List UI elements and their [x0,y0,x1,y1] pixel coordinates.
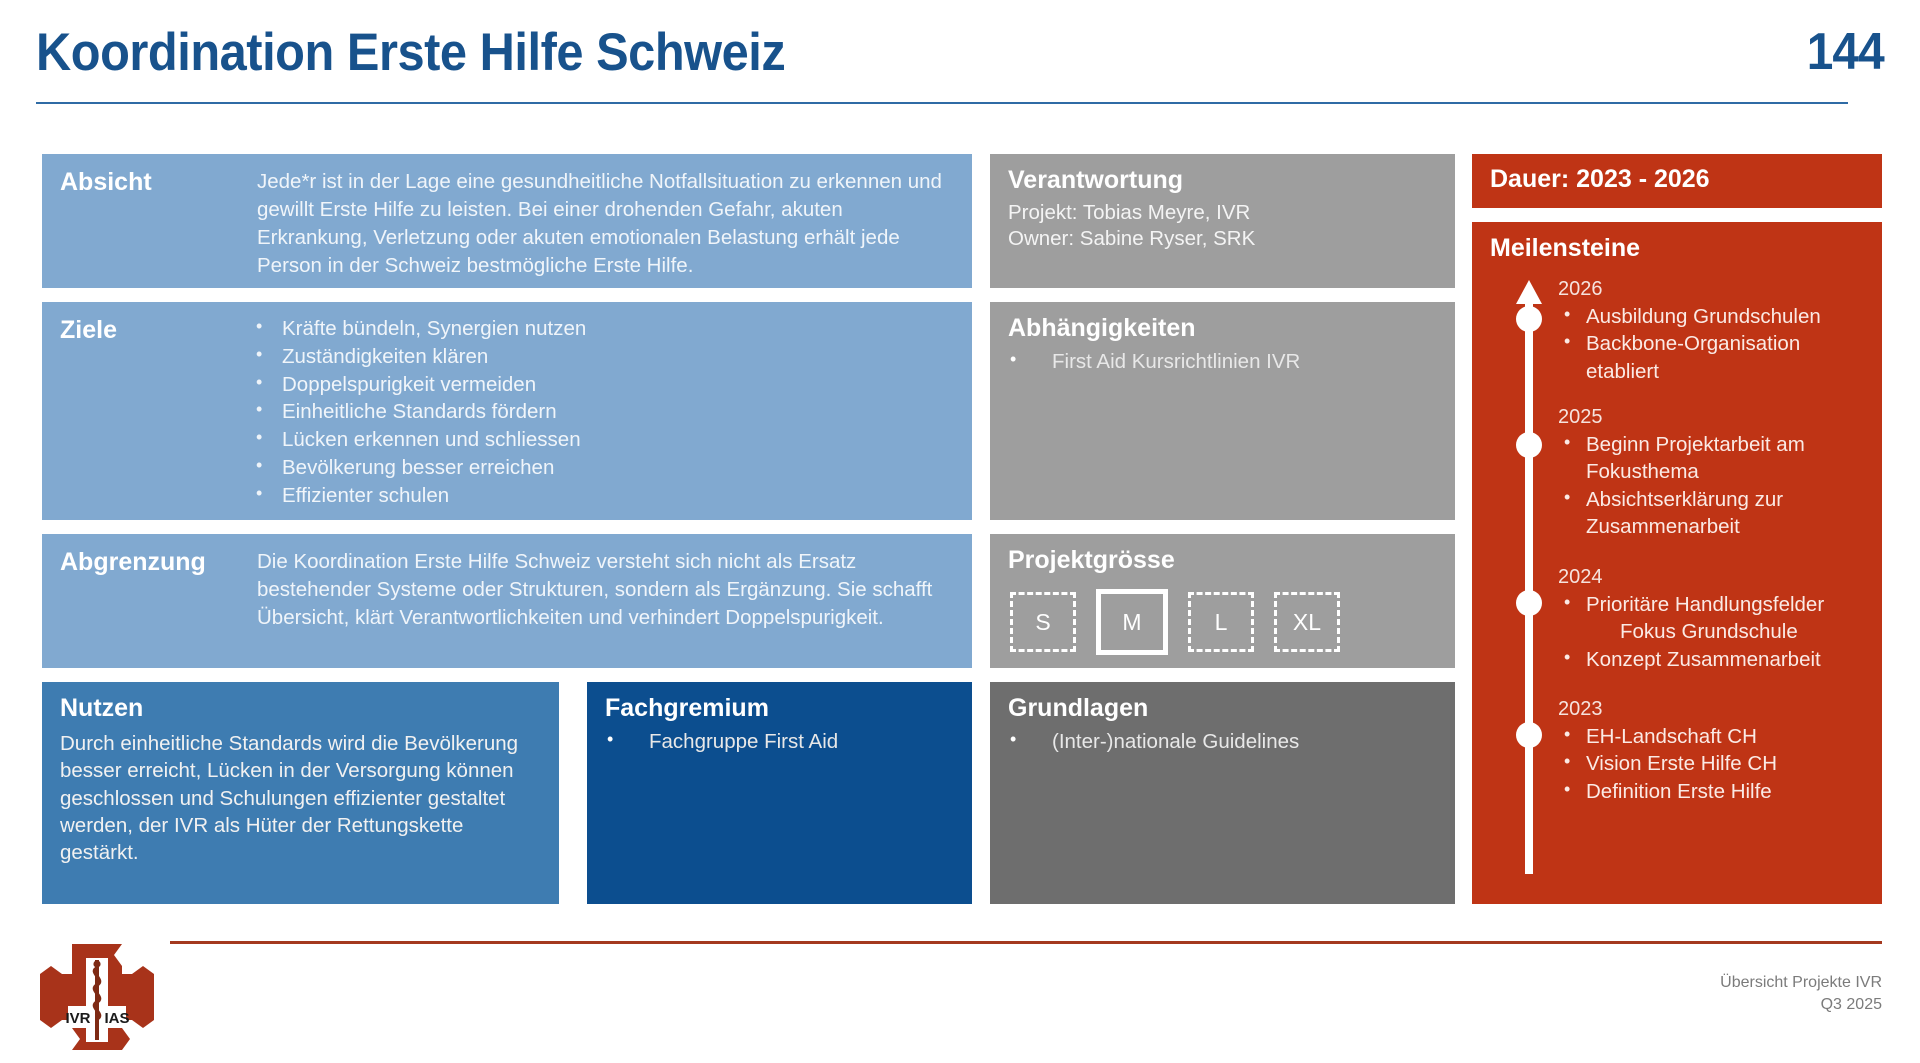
timeline-line [1525,302,1533,874]
timeline-dot-2026 [1516,306,1542,332]
ziele-list-item: Bevölkerung besser erreichen [250,454,958,482]
milestone-list: Beginn Projektarbeit am FokusthemaAbsich… [1558,431,1872,541]
card-verantwortung-label: Verantwortung [1008,166,1183,195]
project-size-option-s[interactable]: S [1010,592,1076,652]
card-nutzen-text: Durch einheitliche Standards wird die Be… [60,730,545,866]
milestone-list-item: Ausbildung Grundschulen [1558,303,1872,330]
card-ziele-list: Kräfte bündeln, Synergien nutzenZuständi… [250,315,958,509]
card-projektgroesse-label: Projektgrösse [1008,546,1175,575]
card-ziele-label: Ziele [60,316,117,345]
ziele-list-item: Lücken erkennen und schliessen [250,426,958,454]
footer-note-line1: Übersicht Projekte IVR [1720,972,1882,994]
milestone-list-item: Prioritäre Handlungsfelder [1558,591,1872,618]
card-ziele: Ziele Kräfte bündeln, Synergien nutzenZu… [42,302,972,520]
logo-text-ivr: IVR [65,1010,90,1027]
logo-text-ias: IAS [104,1010,129,1027]
milestone-list-item: Absichtserklärung zur Zusammenarbeit [1558,486,1872,541]
card-grundlagen-list: (Inter-)nationale Guidelines [1008,728,1441,756]
verantwortung-line: Projekt: Tobias Meyre, IVR [1008,200,1441,226]
milestone-list-item: Definition Erste Hilfe [1558,778,1872,805]
ziele-list-item: Einheitliche Standards fördern [250,398,958,426]
card-projektgroesse: Projektgrösse SMLXL [990,534,1455,668]
milestone-group-2026: 2026Ausbildung GrundschulenBackbone-Orga… [1558,278,1872,385]
milestone-list-item: Vision Erste Hilfe CH [1558,750,1872,777]
ivr-ias-logo: IVR IAS [34,938,160,1056]
milestone-list: Prioritäre HandlungsfelderFokus Grundsch… [1558,591,1872,673]
milestone-year: 2026 [1558,278,1872,301]
card-abgrenzung: Abgrenzung Die Koordination Erste Hilfe … [42,534,972,668]
milestone-list-item: Fokus Grundschule [1558,618,1872,645]
footer-note: Übersicht Projekte IVR Q3 2025 [1720,972,1882,1015]
milestone-year: 2023 [1558,698,1872,721]
footer-divider [170,941,1882,944]
milestone-list: EH-Landschaft CHVision Erste Hilfe CHDef… [1558,723,1872,805]
project-size-selector[interactable]: SMLXL [1010,592,1340,655]
card-abhaengigkeiten-list: First Aid Kursrichtlinien IVR [1008,348,1441,376]
milestone-list-item: EH-Landschaft CH [1558,723,1872,750]
card-verantwortung-lines: Projekt: Tobias Meyre, IVROwner: Sabine … [1008,200,1441,251]
timeline-arrow-icon [1516,280,1542,304]
footer-note-line2: Q3 2025 [1720,994,1882,1016]
card-fachgremium-label: Fachgremium [605,694,769,723]
header-divider [36,102,1848,104]
milestone-year: 2025 [1558,406,1872,429]
milestone-group-2024: 2024Prioritäre HandlungsfelderFokus Grun… [1558,566,1872,673]
slide-header: Koordination Erste Hilfe Schweiz 144 [36,16,1884,94]
card-dauer: Dauer: 2023 - 2026 [1472,154,1882,208]
slide: Koordination Erste Hilfe Schweiz 144 Abs… [0,0,1920,1063]
ziele-list-item: Kräfte bündeln, Synergien nutzen [250,315,958,343]
milestone-list: Ausbildung GrundschulenBackbone-Organisa… [1558,303,1872,385]
milestone-list-item: Konzept Zusammenarbeit [1558,646,1872,673]
verantwortung-line: Owner: Sabine Ryser, SRK [1008,226,1441,252]
milestone-list-item: Backbone-Organisation etabliert [1558,330,1872,385]
milestone-group-2025: 2025Beginn Projektarbeit am FokusthemaAb… [1558,406,1872,541]
card-grundlagen: Grundlagen (Inter-)nationale Guidelines [990,682,1455,904]
grundlagen-list-item: (Inter-)nationale Guidelines [1008,728,1441,756]
card-abgrenzung-label: Abgrenzung [60,548,206,577]
card-fachgremium: Fachgremium Fachgruppe First Aid [587,682,972,904]
project-size-option-l[interactable]: L [1188,592,1254,652]
card-verantwortung: Verantwortung Projekt: Tobias Meyre, IVR… [990,154,1455,288]
timeline-dot-2024 [1516,590,1542,616]
page-title: Koordination Erste Hilfe Schweiz [36,22,785,83]
milestone-year: 2024 [1558,566,1872,589]
fachgremium-list-item: Fachgruppe First Aid [605,728,958,756]
card-abhaengigkeiten: Abhängigkeiten First Aid Kursrichtlinien… [990,302,1455,520]
card-meilensteine-label: Meilensteine [1490,234,1640,263]
ziele-list-item: Effizienter schulen [250,482,958,510]
card-absicht-text: Jede*r ist in der Lage eine gesundheitli… [257,168,958,280]
timeline-dot-2023 [1516,722,1542,748]
card-nutzen-label: Nutzen [60,694,143,723]
card-absicht-label: Absicht [60,168,152,197]
milestone-group-2023: 2023EH-Landschaft CHVision Erste Hilfe C… [1558,698,1872,805]
card-abgrenzung-text: Die Koordination Erste Hilfe Schweiz ver… [257,548,958,632]
timeline-dot-2025 [1516,432,1542,458]
milestone-list-item: Beginn Projektarbeit am Fokusthema [1558,431,1872,486]
card-abhaengigkeiten-label: Abhängigkeiten [1008,314,1196,343]
logo-144: 144 [1807,22,1884,82]
ziele-list-item: Zuständigkeiten klären [250,343,958,371]
card-nutzen: Nutzen Durch einheitliche Standards wird… [42,682,559,904]
timeline-axis [1516,280,1542,888]
ivr-ias-logo-icon: IVR IAS [34,938,160,1056]
project-size-option-xl[interactable]: XL [1274,592,1340,652]
project-size-option-m[interactable]: M [1096,589,1168,655]
card-fachgremium-list: Fachgruppe First Aid [605,728,958,756]
card-dauer-label: Dauer: 2023 - 2026 [1490,165,1710,194]
card-absicht: Absicht Jede*r ist in der Lage eine gesu… [42,154,972,288]
ziele-list-item: Doppelspurigkeit vermeiden [250,371,958,399]
abhaengigkeiten-list-item: First Aid Kursrichtlinien IVR [1008,348,1441,376]
card-meilensteine: Meilensteine 2026Ausbildung Grundschulen… [1472,222,1882,904]
card-grundlagen-label: Grundlagen [1008,694,1148,723]
